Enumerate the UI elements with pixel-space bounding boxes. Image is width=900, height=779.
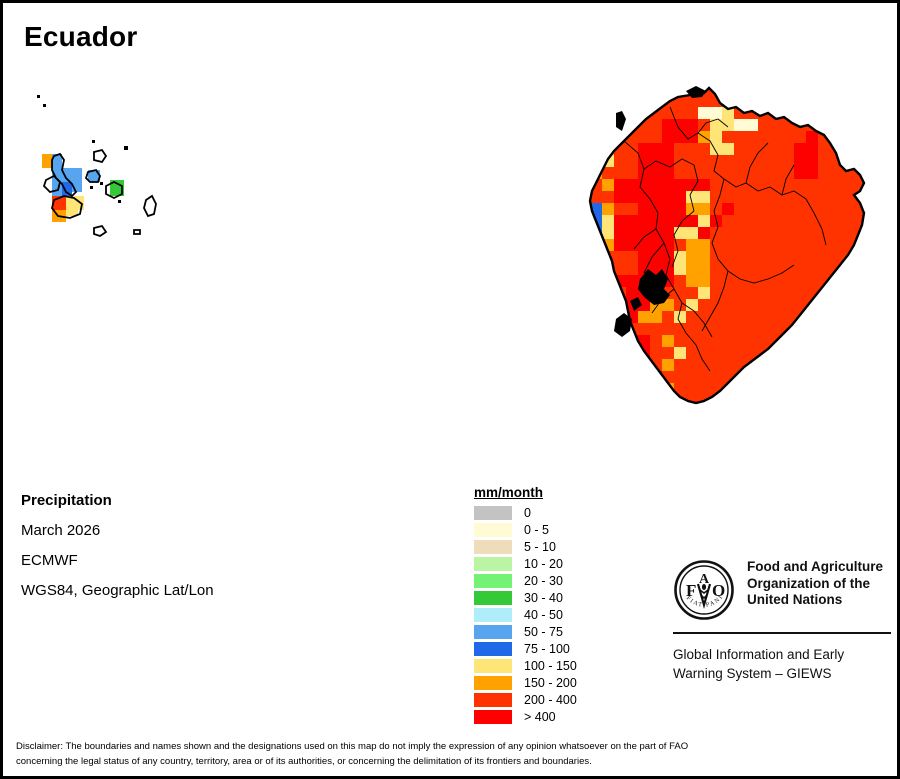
giews-programme-name: Global Information and Early Warning Sys…	[673, 645, 898, 683]
giews-line-2: Warning System – GIEWS	[673, 664, 898, 683]
precipitation-raster	[578, 83, 898, 433]
legend-row: 150 - 200	[474, 674, 577, 691]
legend-label: 75 - 100	[524, 642, 570, 656]
legend-swatch	[474, 659, 512, 673]
fao-org-line-3: United Nations	[747, 592, 883, 609]
fao-org-line-2: Organization of the	[747, 576, 883, 593]
legend-row: 20 - 30	[474, 572, 577, 589]
legend-label: 200 - 400	[524, 693, 577, 707]
legend-row: 40 - 50	[474, 606, 577, 623]
legend-row: 100 - 150	[474, 657, 577, 674]
galapagos-islands-map[interactable]	[28, 138, 198, 258]
legend-row: 0 - 5	[474, 521, 577, 538]
legend-label: 0 - 5	[524, 523, 549, 537]
legend-swatch	[474, 523, 512, 537]
legend-swatch	[474, 625, 512, 639]
legend: mm/month 00 - 55 - 1010 - 2020 - 3030 - …	[474, 484, 577, 725]
legend-swatch	[474, 676, 512, 690]
legend-row: 200 - 400	[474, 691, 577, 708]
map-info-block: Precipitation March 2026 ECMWF WGS84, Ge…	[21, 486, 214, 606]
legend-label: > 400	[524, 710, 556, 724]
legend-row: 10 - 20	[474, 555, 577, 572]
legend-label: 50 - 75	[524, 625, 563, 639]
legend-swatch	[474, 506, 512, 520]
fao-branding-block: F A O FIAT PANIS	[673, 559, 898, 683]
legend-label: 40 - 50	[524, 608, 563, 622]
legend-swatch	[474, 608, 512, 622]
map-page: Ecuador	[0, 0, 900, 779]
legend-swatch	[474, 710, 512, 724]
legend-swatch	[474, 574, 512, 588]
legend-label: 5 - 10	[524, 540, 556, 554]
fao-logo-icon: F A O FIAT PANIS	[673, 559, 735, 621]
legend-swatch	[474, 693, 512, 707]
disclaimer: Disclaimer: The boundaries and names sho…	[16, 740, 878, 769]
legend-swatch	[474, 540, 512, 554]
fao-organization-name: Food and Agriculture Organization of the…	[747, 559, 883, 609]
islet-dot-south	[43, 104, 46, 107]
legend-row: > 400	[474, 708, 577, 725]
fao-divider	[673, 632, 891, 634]
disclaimer-line-1: Disclaimer: The boundaries and names sho…	[16, 740, 878, 755]
legend-swatch	[474, 642, 512, 656]
giews-line-1: Global Information and Early	[673, 645, 898, 664]
legend-row: 0	[474, 504, 577, 521]
legend-label: 150 - 200	[524, 676, 577, 690]
legend-row: 30 - 40	[474, 589, 577, 606]
legend-label: 0	[524, 506, 531, 520]
info-projection: WGS84, Geographic Lat/Lon	[21, 576, 214, 606]
legend-label: 30 - 40	[524, 591, 563, 605]
islet-dot-north	[37, 95, 40, 98]
legend-row: 75 - 100	[474, 640, 577, 657]
legend-label: 20 - 30	[524, 574, 563, 588]
page-title: Ecuador	[24, 23, 137, 51]
legend-title: mm/month	[474, 485, 543, 500]
info-variable: Precipitation	[21, 486, 214, 516]
legend-items: 00 - 55 - 1010 - 2020 - 3030 - 4040 - 50…	[474, 504, 577, 725]
info-period: March 2026	[21, 516, 214, 546]
disclaimer-line-2: concerning the legal status of any count…	[16, 755, 878, 770]
legend-swatch	[474, 557, 512, 571]
legend-row: 5 - 10	[474, 538, 577, 555]
info-source: ECMWF	[21, 546, 214, 576]
legend-swatch	[474, 591, 512, 605]
legend-label: 10 - 20	[524, 557, 563, 571]
legend-label: 100 - 150	[524, 659, 577, 673]
mainland-ecuador-map[interactable]	[578, 83, 898, 433]
fao-org-line-1: Food and Agriculture	[747, 559, 883, 576]
legend-row: 50 - 75	[474, 623, 577, 640]
